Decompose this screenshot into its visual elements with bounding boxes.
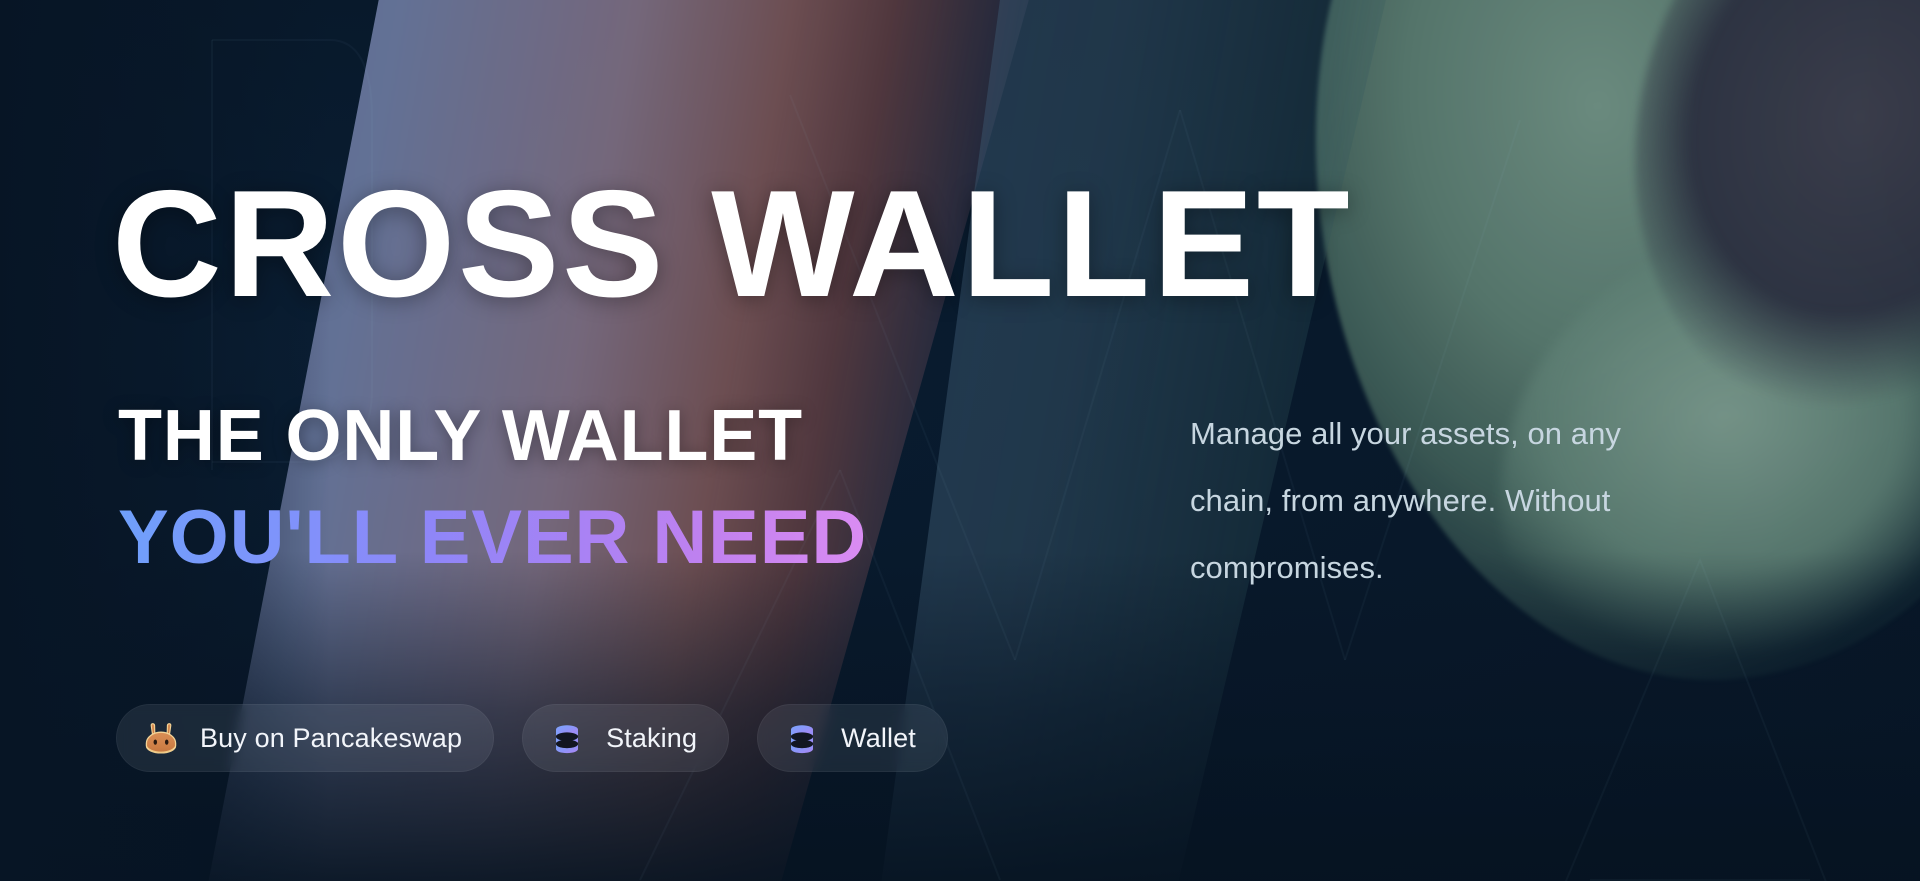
hero-button-group: Buy on Pancakeswap [116,704,948,772]
hero-content: CROSS WALLET THE ONLY WALLET YOU'LL EVER… [0,0,1920,881]
hero-subtitle: THE ONLY WALLET [118,400,803,472]
buy-on-pancakeswap-button[interactable]: Buy on Pancakeswap [116,704,494,772]
page-title: CROSS WALLET [112,168,1352,320]
wallet-button[interactable]: Wallet [757,704,948,772]
hero-section: CROSS WALLET THE ONLY WALLET YOU'LL EVER… [0,0,1920,881]
stacked-coins-icon [783,719,821,757]
button-label: Staking [606,723,697,754]
hero-subtitle-accent: YOU'LL EVER NEED [118,500,867,576]
button-label: Buy on Pancakeswap [200,723,462,754]
hero-description: Manage all your assets, on any chain, fr… [1190,400,1670,601]
pancakeswap-bunny-icon [142,719,180,757]
button-label: Wallet [841,723,916,754]
staking-button[interactable]: Staking [522,704,729,772]
stacked-coins-icon [548,719,586,757]
